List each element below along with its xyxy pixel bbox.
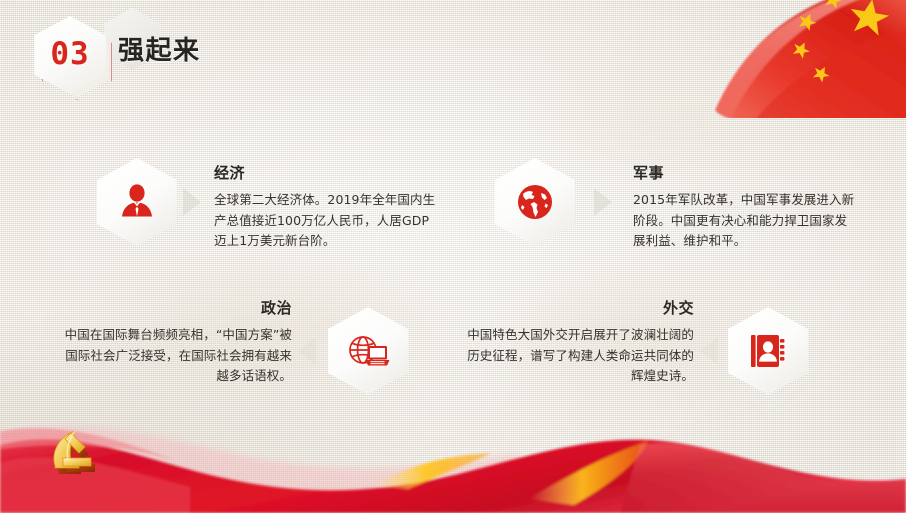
- text-group-politics: 政治 中国在国际舞台频频亮相，“中国方案”被国际社会广泛接受，在国际社会拥有越来…: [60, 297, 292, 387]
- block-caption: 军事: [633, 162, 855, 183]
- text-group-economy: 经济 全球第二大经济体。2019年全年国内生产总值接近100万亿人民币，人居GD…: [214, 162, 436, 252]
- page-title: 强起来: [118, 30, 201, 67]
- block-text: 中国在国际舞台频频亮相，“中国方案”被国际社会广泛接受，在国际社会拥有越来越多话…: [60, 325, 292, 387]
- block-caption: 经济: [214, 162, 436, 183]
- globe-icon: [514, 181, 556, 223]
- block-caption: 政治: [60, 297, 292, 318]
- text-group-military: 军事 2015年军队改革，中国军事发展进入新阶段。中国更有决心和能力捍卫国家发展…: [633, 162, 855, 252]
- block-text: 2015年军队改革，中国军事发展进入新阶段。中国更有决心和能力捍卫国家发展利益、…: [633, 190, 855, 252]
- text-group-diplomacy: 外交 中国特色大国外交开启展开了波澜壮阔的历史征程，谱写了构建人类命运共同体的辉…: [462, 297, 694, 387]
- globe-laptop-icon: [346, 330, 390, 372]
- triangle-left-icon: [700, 337, 718, 365]
- address-book-icon: [748, 331, 788, 371]
- triangle-right-icon: [594, 188, 612, 216]
- block-text: 中国特色大国外交开启展开了波澜壮阔的历史征程，谱写了构建人类命运共同体的辉煌史诗…: [462, 325, 694, 387]
- triangle-right-icon: [183, 188, 201, 216]
- slide-root: 03 强起来 经济 全球第二大经济体。2019年全年国内生产总值接近100万亿人…: [0, 0, 906, 513]
- businessman-icon: [117, 182, 157, 222]
- slide-number: 03: [50, 39, 89, 70]
- block-text: 全球第二大经济体。2019年全年国内生产总值接近100万亿人民币，人居GDP迈上…: [214, 190, 436, 252]
- laptop-part: [366, 346, 390, 366]
- block-caption: 外交: [462, 297, 694, 318]
- slide-header: 03 强起来: [22, 8, 342, 88]
- triangle-left-icon: [298, 337, 316, 365]
